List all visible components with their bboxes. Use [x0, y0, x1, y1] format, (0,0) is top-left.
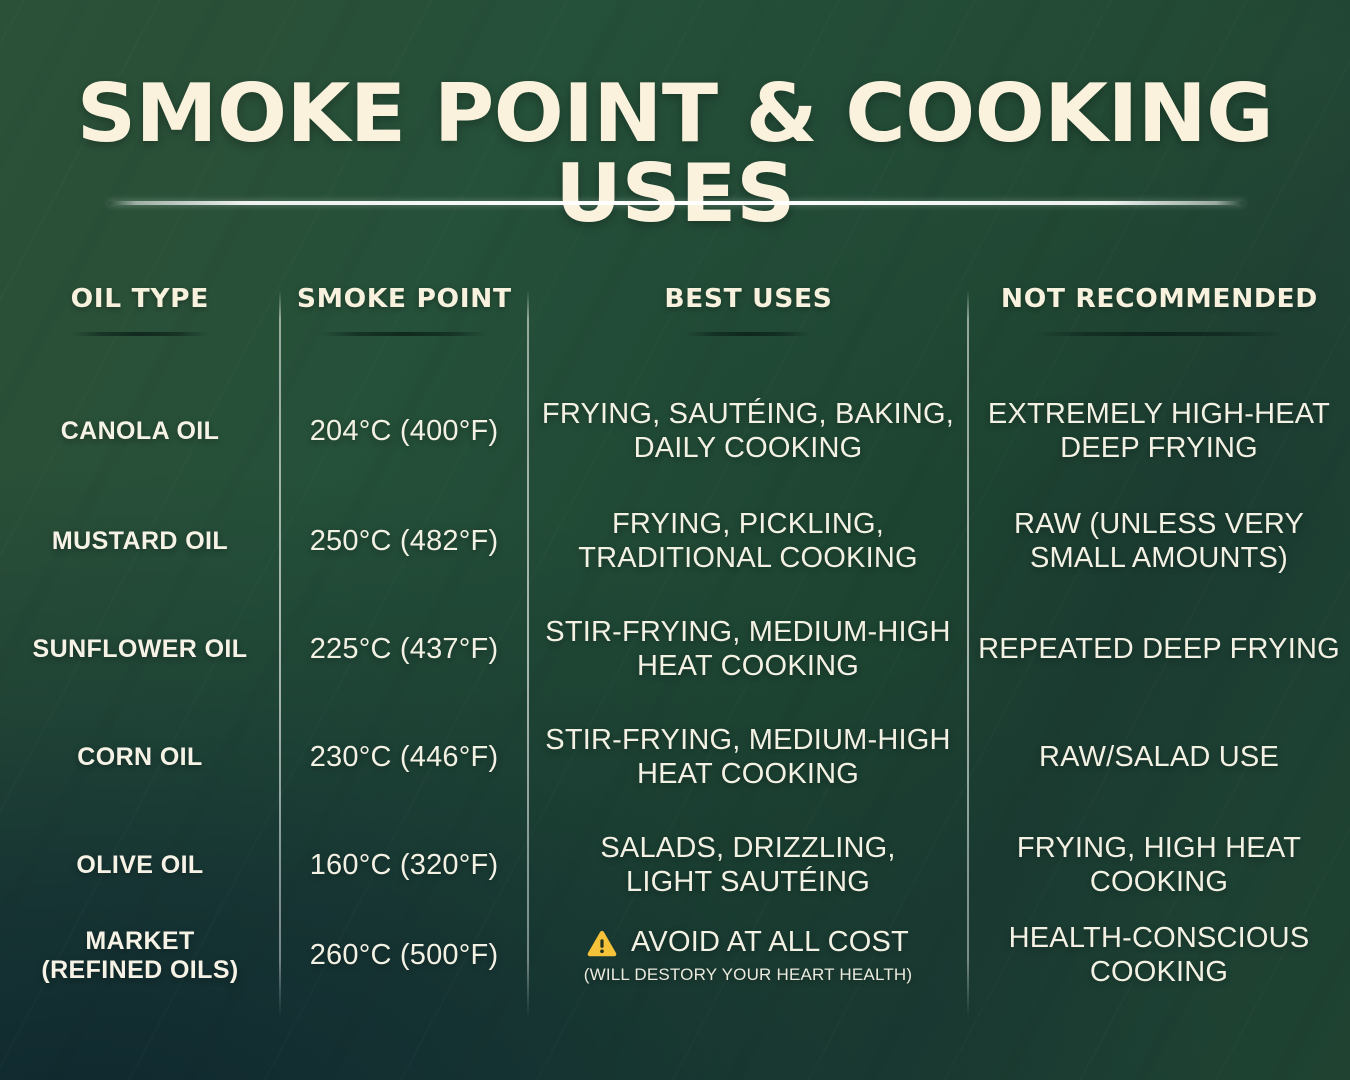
oil-type-text: CANOLA OIL	[61, 417, 220, 446]
column-header-label: SMOKE POINT	[297, 284, 512, 314]
column-header-best-uses: BEST USES	[528, 284, 968, 340]
infographic-poster: SMOKE POINT & COOKING USES OIL TYPE SMOK…	[0, 0, 1350, 1080]
header-underline	[320, 332, 488, 336]
smoke-point-text: 260°C (500°F)	[310, 939, 499, 973]
not-recommended-text: RAW/SALAD USE	[1039, 741, 1279, 775]
cell-smoke-point: 160°C (320°F)	[280, 832, 528, 899]
best-uses-text: FRYING, SAUTÉING, BAKING,DAILY COOKING	[542, 398, 954, 465]
best-uses-text: FRYING, PICKLING,TRADITIONAL COOKING	[578, 508, 917, 575]
header-underline	[1033, 332, 1285, 336]
smoke-point-text: 250°C (482°F)	[310, 525, 499, 559]
table-row: MUSTARD OIL 250°C (482°F) FRYING, PICKLI…	[0, 508, 1350, 575]
cell-smoke-point: 204°C (400°F)	[280, 398, 528, 465]
smoke-point-text: 160°C (320°F)	[310, 849, 499, 883]
warning-triangle-icon	[587, 930, 617, 957]
table-row: OLIVE OIL 160°C (320°F) SALADS, DRIZZLIN…	[0, 832, 1350, 899]
cell-best-uses: STIR-FRYING, MEDIUM-HIGHHEAT COOKING	[528, 724, 968, 791]
best-uses-text: STIR-FRYING, MEDIUM-HIGHHEAT COOKING	[545, 724, 950, 791]
cell-not-recommended: EXTREMELY HIGH-HEATDEEP FRYING	[968, 398, 1350, 465]
column-header-smoke-point: SMOKE POINT	[280, 284, 528, 340]
not-recommended-text: HEALTH-CONSCIOUSCOOKING	[1009, 922, 1310, 989]
table-row: CANOLA OIL 204°C (400°F) FRYING, SAUTÉIN…	[0, 398, 1350, 465]
cell-oil-type: MARKET(REFINED OILS)	[0, 922, 280, 989]
oil-type-text: MUSTARD OIL	[52, 527, 228, 556]
title-divider	[108, 201, 1244, 205]
cell-smoke-point: 250°C (482°F)	[280, 508, 528, 575]
smoke-point-text: 225°C (437°F)	[310, 633, 499, 667]
column-header-not-recommended: NOT RECOMMENDED	[968, 284, 1350, 340]
cell-best-uses: FRYING, PICKLING,TRADITIONAL COOKING	[528, 508, 968, 575]
smoke-point-text: 230°C (446°F)	[310, 741, 499, 775]
best-uses-text: STIR-FRYING, MEDIUM-HIGHHEAT COOKING	[545, 616, 950, 683]
not-recommended-text: REPEATED DEEP FRYING	[978, 633, 1340, 667]
cell-oil-type: MUSTARD OIL	[0, 508, 280, 575]
smoke-point-text: 204°C (400°F)	[310, 415, 499, 449]
oil-type-text: OLIVE OIL	[76, 851, 203, 880]
table-row: SUNFLOWER OIL 225°C (437°F) STIR-FRYING,…	[0, 616, 1350, 683]
cell-best-uses: FRYING, SAUTÉING, BAKING,DAILY COOKING	[528, 398, 968, 465]
cell-not-recommended: FRYING, HIGH HEATCOOKING	[968, 832, 1350, 899]
header-underline	[71, 332, 209, 336]
best-uses-note-text: (WILL DESTORY YOUR HEART HEALTH)	[584, 965, 913, 985]
cell-not-recommended: RAW/SALAD USE	[968, 724, 1350, 791]
cell-best-uses: AVOID AT ALL COST (WILL DESTORY YOUR HEA…	[528, 922, 968, 989]
cell-smoke-point: 230°C (446°F)	[280, 724, 528, 791]
cell-not-recommended: RAW (UNLESS VERYSMALL AMOUNTS)	[968, 508, 1350, 575]
header-underline	[685, 332, 811, 336]
column-header-label: BEST USES	[664, 284, 832, 314]
oil-type-text: CORN OIL	[77, 743, 202, 772]
oil-type-text: SUNFLOWER OIL	[33, 635, 248, 664]
column-header-label: NOT RECOMMENDED	[1000, 284, 1317, 314]
not-recommended-text: RAW (UNLESS VERYSMALL AMOUNTS)	[1014, 508, 1304, 575]
cell-best-uses: SALADS, DRIZZLING,LIGHT SAUTÉING	[528, 832, 968, 899]
page-title: SMOKE POINT & COOKING USES	[0, 74, 1350, 234]
cell-oil-type: SUNFLOWER OIL	[0, 616, 280, 683]
cell-not-recommended: REPEATED DEEP FRYING	[968, 616, 1350, 683]
cell-oil-type: CANOLA OIL	[0, 398, 280, 465]
not-recommended-text: EXTREMELY HIGH-HEATDEEP FRYING	[988, 398, 1330, 465]
cell-oil-type: CORN OIL	[0, 724, 280, 791]
table-header-row: OIL TYPE SMOKE POINT BEST USES NOT RECOM…	[0, 284, 1350, 340]
best-uses-text: SALADS, DRIZZLING,LIGHT SAUTÉING	[600, 832, 895, 899]
cell-not-recommended: HEALTH-CONSCIOUSCOOKING	[968, 922, 1350, 989]
not-recommended-text: FRYING, HIGH HEATCOOKING	[1017, 832, 1301, 899]
oil-type-text: MARKET(REFINED OILS)	[41, 927, 238, 985]
cell-best-uses: STIR-FRYING, MEDIUM-HIGHHEAT COOKING	[528, 616, 968, 683]
cell-smoke-point: 260°C (500°F)	[280, 922, 528, 989]
cell-smoke-point: 225°C (437°F)	[280, 616, 528, 683]
table-row: MARKET(REFINED OILS) 260°C (500°F) AVOID…	[0, 922, 1350, 989]
cell-oil-type: OLIVE OIL	[0, 832, 280, 899]
best-uses-text: AVOID AT ALL COST	[631, 926, 909, 960]
column-header-label: OIL TYPE	[71, 284, 209, 314]
column-header-oil-type: OIL TYPE	[0, 284, 280, 340]
table-row: CORN OIL 230°C (446°F) STIR-FRYING, MEDI…	[0, 724, 1350, 791]
